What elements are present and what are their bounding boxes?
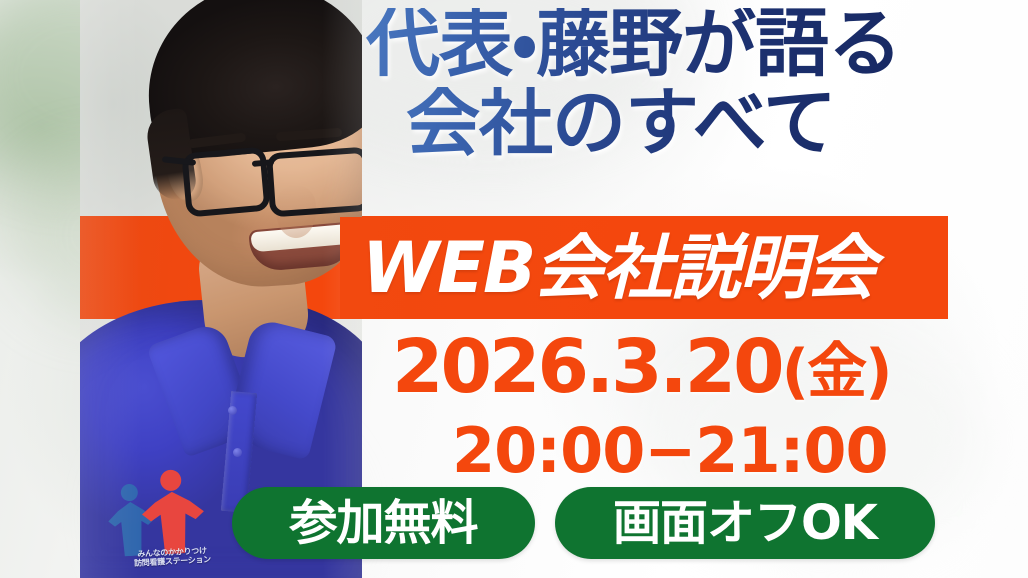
company-logo: みんなのかかりつけ 訪問看護ステーション <box>103 459 234 569</box>
headline-line-2: 会社のすべて <box>362 87 962 160</box>
event-time: 20:00−21:00 <box>452 420 952 482</box>
badge-row: 参加無料 画面オフOK <box>232 487 935 559</box>
web-seminar-banner: みんなのかかりつけ 訪問看護ステーション 代表・藤野が語る 会社のすべて WEB… <box>0 0 1028 578</box>
logo-figure-red-icon <box>140 468 206 557</box>
eyeglasses-lens-left <box>181 146 270 217</box>
title-band-text: WEB会社説明会 <box>340 233 874 303</box>
title-band: WEB会社説明会 <box>340 217 948 319</box>
event-day-of-week: (金) <box>782 337 891 407</box>
shirt-button-1 <box>228 406 237 415</box>
badge-camera-off-ok-label: 画面オフOK <box>613 499 877 547</box>
eyeglasses-lens-right <box>266 147 362 218</box>
event-date-value: 2026.3.20 <box>392 324 782 410</box>
headline-line-1: 代表・藤野が語る <box>362 8 962 81</box>
event-date: 2026.3.20(金) <box>392 330 952 404</box>
badge-camera-off-ok[interactable]: 画面オフOK <box>555 487 935 559</box>
badge-free-participation-label: 参加無料 <box>289 499 477 547</box>
headline: 代表・藤野が語る 会社のすべて <box>362 8 962 159</box>
shirt-button-2 <box>233 448 242 457</box>
badge-free-participation[interactable]: 参加無料 <box>232 487 535 559</box>
